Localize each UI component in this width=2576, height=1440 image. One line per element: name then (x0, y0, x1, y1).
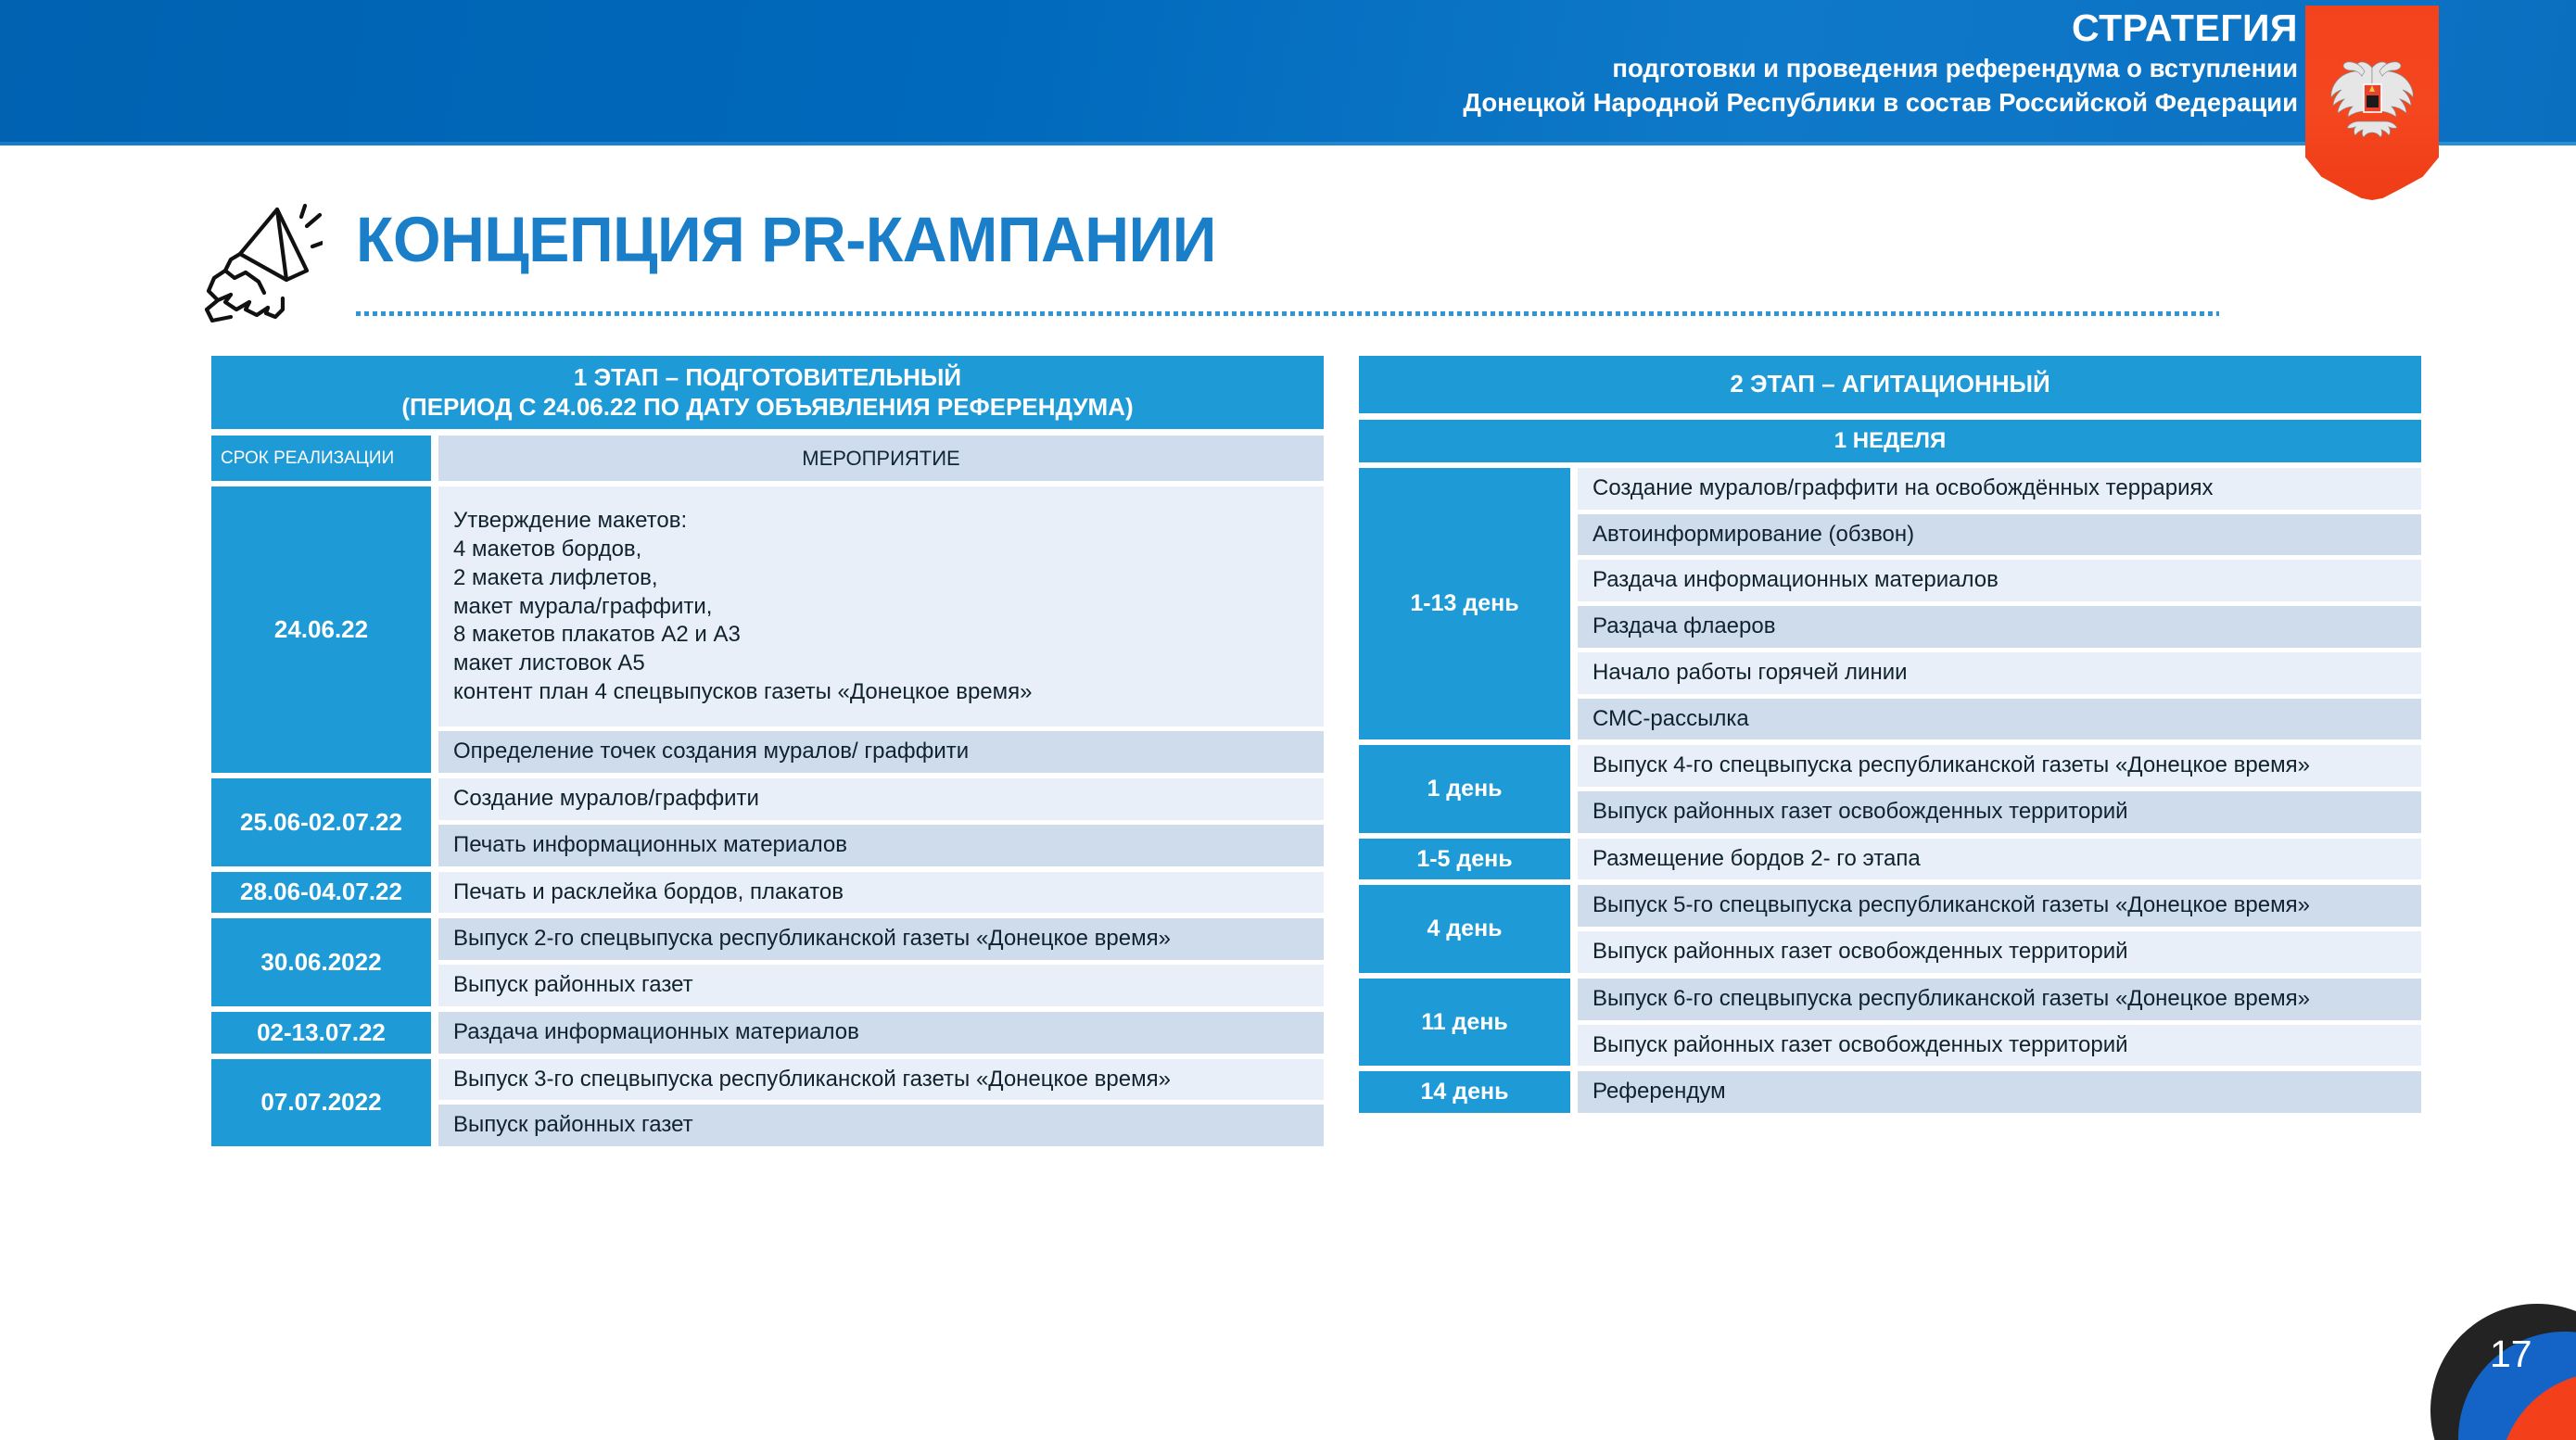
event-cell: Выпуск районных газет освобожденных терр… (1578, 1025, 2421, 1067)
row-events-group: Выпуск 5-го спецвыпуска республиканской … (1578, 885, 2421, 972)
cell-divider (431, 1012, 438, 1054)
row-events-group: Референдум (1578, 1071, 2421, 1113)
event-cell: Раздача информационных материалов (1578, 560, 2421, 601)
event-cell: Выпуск 3-го спецвыпуска республиканской … (438, 1059, 1324, 1101)
row-events-group: Раздача информационных материалов (438, 1012, 1324, 1054)
row-events-group: Создание муралов/граффити на освобождённ… (1578, 468, 2421, 739)
event-cell: Выпуск 2-го спецвыпуска республиканской … (438, 918, 1324, 960)
event-cell: Выпуск 5-го спецвыпуска республиканской … (1578, 885, 2421, 927)
table-row: 11 деньВыпуск 6-го спецвыпуска республик… (1359, 979, 2421, 1066)
event-cell: Раздача информационных материалов (438, 1012, 1324, 1054)
event-cell: Референдум (1578, 1071, 2421, 1113)
event-cell: Печать и расклейка бордов, плакатов (438, 872, 1324, 914)
stage1-col-header-date: СРОК РЕАЛИЗАЦИИ (211, 436, 431, 481)
stage2-subheading: 1 НЕДЕЛЯ (1359, 420, 2421, 462)
stage1-table: 1 ЭТАП – ПОДГОТОВИТЕЛЬНЫЙ (ПЕРИОД С 24.0… (211, 356, 1324, 1146)
event-cell: Создание муралов/граффити на освобождённ… (1578, 468, 2421, 510)
row-period-cell: 4 день (1359, 885, 1570, 972)
header-text-block: СТРАТЕГИЯ подготовки и проведения рефере… (1204, 7, 2298, 119)
stage1-row-container: 24.06.22Утверждение макетов: 4 макетов б… (211, 486, 1324, 1146)
table-row: 1 деньВыпуск 4-го спецвыпуска республика… (1359, 745, 2421, 832)
double-headed-eagle-icon (2324, 51, 2420, 140)
cell-divider (431, 778, 438, 865)
row-period-cell: 07.07.2022 (211, 1059, 431, 1146)
table-row: 4 деньВыпуск 5-го спецвыпуска республика… (1359, 885, 2421, 972)
page-number: 17 (2490, 1335, 2532, 1373)
table-row: 1-5 деньРазмещение бордов 2- го этапа (1359, 839, 2421, 880)
event-cell: Выпуск районных газет освобожденных терр… (1578, 931, 2421, 973)
row-period-cell: 02-13.07.22 (211, 1012, 431, 1054)
megaphone-icon (197, 198, 323, 328)
event-cell: Начало работы горячей линии (1578, 652, 2421, 694)
row-period-cell: 1-5 день (1359, 839, 1570, 880)
row-period-cell: 1 день (1359, 745, 1570, 832)
band-gap (1359, 413, 2421, 420)
table-row: 25.06-02.07.22Создание муралов/граффитиП… (211, 778, 1324, 865)
cell-divider (431, 1059, 438, 1146)
cell-divider (1570, 468, 1578, 739)
row-period-cell: 30.06.2022 (211, 918, 431, 1005)
event-cell: Создание муралов/граффити (438, 778, 1324, 820)
table-row: 14 деньРеферендум (1359, 1071, 2421, 1113)
event-cell: Раздача флаеров (1578, 606, 2421, 648)
top-header-band: СТРАТЕГИЯ подготовки и проведения рефере… (0, 0, 2576, 145)
page-title: КОНЦЕПЦИЯ PR-КАМПАНИИ (356, 208, 1216, 272)
cell-divider (431, 918, 438, 1005)
cell-divider (431, 872, 438, 914)
stage2-heading-label: 2 ЭТАП – АГИТАЦИОННЫЙ (1730, 370, 2049, 399)
row-events-group: Выпуск 6-го спецвыпуска республиканской … (1578, 979, 2421, 1066)
stage2-subheading-label: 1 НЕДЕЛЯ (1834, 428, 1947, 454)
row-period-cell: 24.06.22 (211, 486, 431, 773)
cell-divider (1570, 745, 1578, 832)
row-period-cell: 28.06-04.07.22 (211, 872, 431, 914)
cell-divider (1570, 1071, 1578, 1113)
row-period-cell: 1-13 день (1359, 468, 1570, 739)
row-events-group: Утверждение макетов: 4 макетов бордов, 2… (438, 486, 1324, 773)
event-cell: СМС-рассылка (1578, 699, 2421, 740)
coat-of-arms-icon (2305, 6, 2439, 200)
stage1-col-header-event: МЕРОПРИЯТИЕ (438, 436, 1324, 481)
stage2-row-container: 1-13 деньСоздание муралов/граффити на ос… (1359, 468, 2421, 1113)
stage1-column-headers: СРОК РЕАЛИЗАЦИИ МЕРОПРИЯТИЕ (211, 436, 1324, 481)
table-row: 24.06.22Утверждение макетов: 4 макетов б… (211, 486, 1324, 773)
row-events-group: Печать и расклейка бордов, плакатов (438, 872, 1324, 914)
table-row: 28.06-04.07.22Печать и расклейка бордов,… (211, 872, 1324, 914)
stage2-heading: 2 ЭТАП – АГИТАЦИОННЫЙ (1359, 356, 2421, 413)
row-period-cell: 14 день (1359, 1071, 1570, 1113)
event-cell: Выпуск районных газет (438, 965, 1324, 1006)
event-cell: Выпуск районных газет освобожденных терр… (1578, 791, 2421, 833)
cell-divider (1570, 839, 1578, 880)
stage2-table: 2 ЭТАП – АГИТАЦИОННЫЙ 1 НЕДЕЛЯ 1-13 день… (1359, 356, 2421, 1113)
page-number-badge: 17 (2414, 1287, 2576, 1440)
cell-divider (431, 486, 438, 773)
cell-divider (1570, 885, 1578, 972)
event-cell: Выпуск 4-го спецвыпуска республиканской … (1578, 745, 2421, 787)
header-subtitle-line2: Донецкой Народной Республики в состав Ро… (1204, 86, 2298, 119)
event-cell: Утверждение макетов: 4 макетов бордов, 2… (438, 486, 1324, 726)
column-divider (431, 436, 438, 481)
event-cell: Печать информационных материалов (438, 825, 1324, 866)
event-cell: Автоинформирование (обзвон) (1578, 514, 2421, 556)
stage1-heading-line1: 1 ЭТАП – ПОДГОТОВИТЕЛЬНЫЙ (574, 363, 961, 393)
stage1-heading: 1 ЭТАП – ПОДГОТОВИТЕЛЬНЫЙ (ПЕРИОД С 24.0… (211, 356, 1324, 429)
slide-title-row: КОНЦЕПЦИЯ PR-КАМПАНИИ (0, 185, 2576, 324)
table-row: 30.06.2022Выпуск 2-го спецвыпуска респуб… (211, 918, 1324, 1005)
table-row: 07.07.2022Выпуск 3-го спецвыпуска респуб… (211, 1059, 1324, 1146)
row-events-group: Выпуск 2-го спецвыпуска республиканской … (438, 918, 1324, 1005)
stage1-heading-line2: (ПЕРИОД С 24.06.22 ПО ДАТУ ОБЪЯВЛЕНИЯ РЕ… (401, 393, 1133, 423)
title-underline-rule (356, 311, 2219, 316)
header-title: СТРАТЕГИЯ (1204, 7, 2298, 50)
event-cell: Выпуск 6-го спецвыпуска республиканской … (1578, 979, 2421, 1020)
event-cell: Выпуск районных газет (438, 1105, 1324, 1146)
row-period-cell: 11 день (1359, 979, 1570, 1066)
cell-divider (1570, 979, 1578, 1066)
event-cell: Определение точек создания муралов/ граф… (438, 731, 1324, 773)
row-events-group: Размещение бордов 2- го этапа (1578, 839, 2421, 880)
row-events-group: Выпуск 4-го спецвыпуска республиканской … (1578, 745, 2421, 832)
row-events-group: Создание муралов/граффитиПечать информац… (438, 778, 1324, 865)
row-period-cell: 25.06-02.07.22 (211, 778, 431, 865)
row-events-group: Выпуск 3-го спецвыпуска республиканской … (438, 1059, 1324, 1146)
table-row: 02-13.07.22Раздача информационных матери… (211, 1012, 1324, 1054)
table-row: 1-13 деньСоздание муралов/граффити на ос… (1359, 468, 2421, 739)
event-cell: Размещение бордов 2- го этапа (1578, 839, 2421, 880)
header-subtitle-line1: подготовки и проведения референдума о вс… (1204, 52, 2298, 84)
